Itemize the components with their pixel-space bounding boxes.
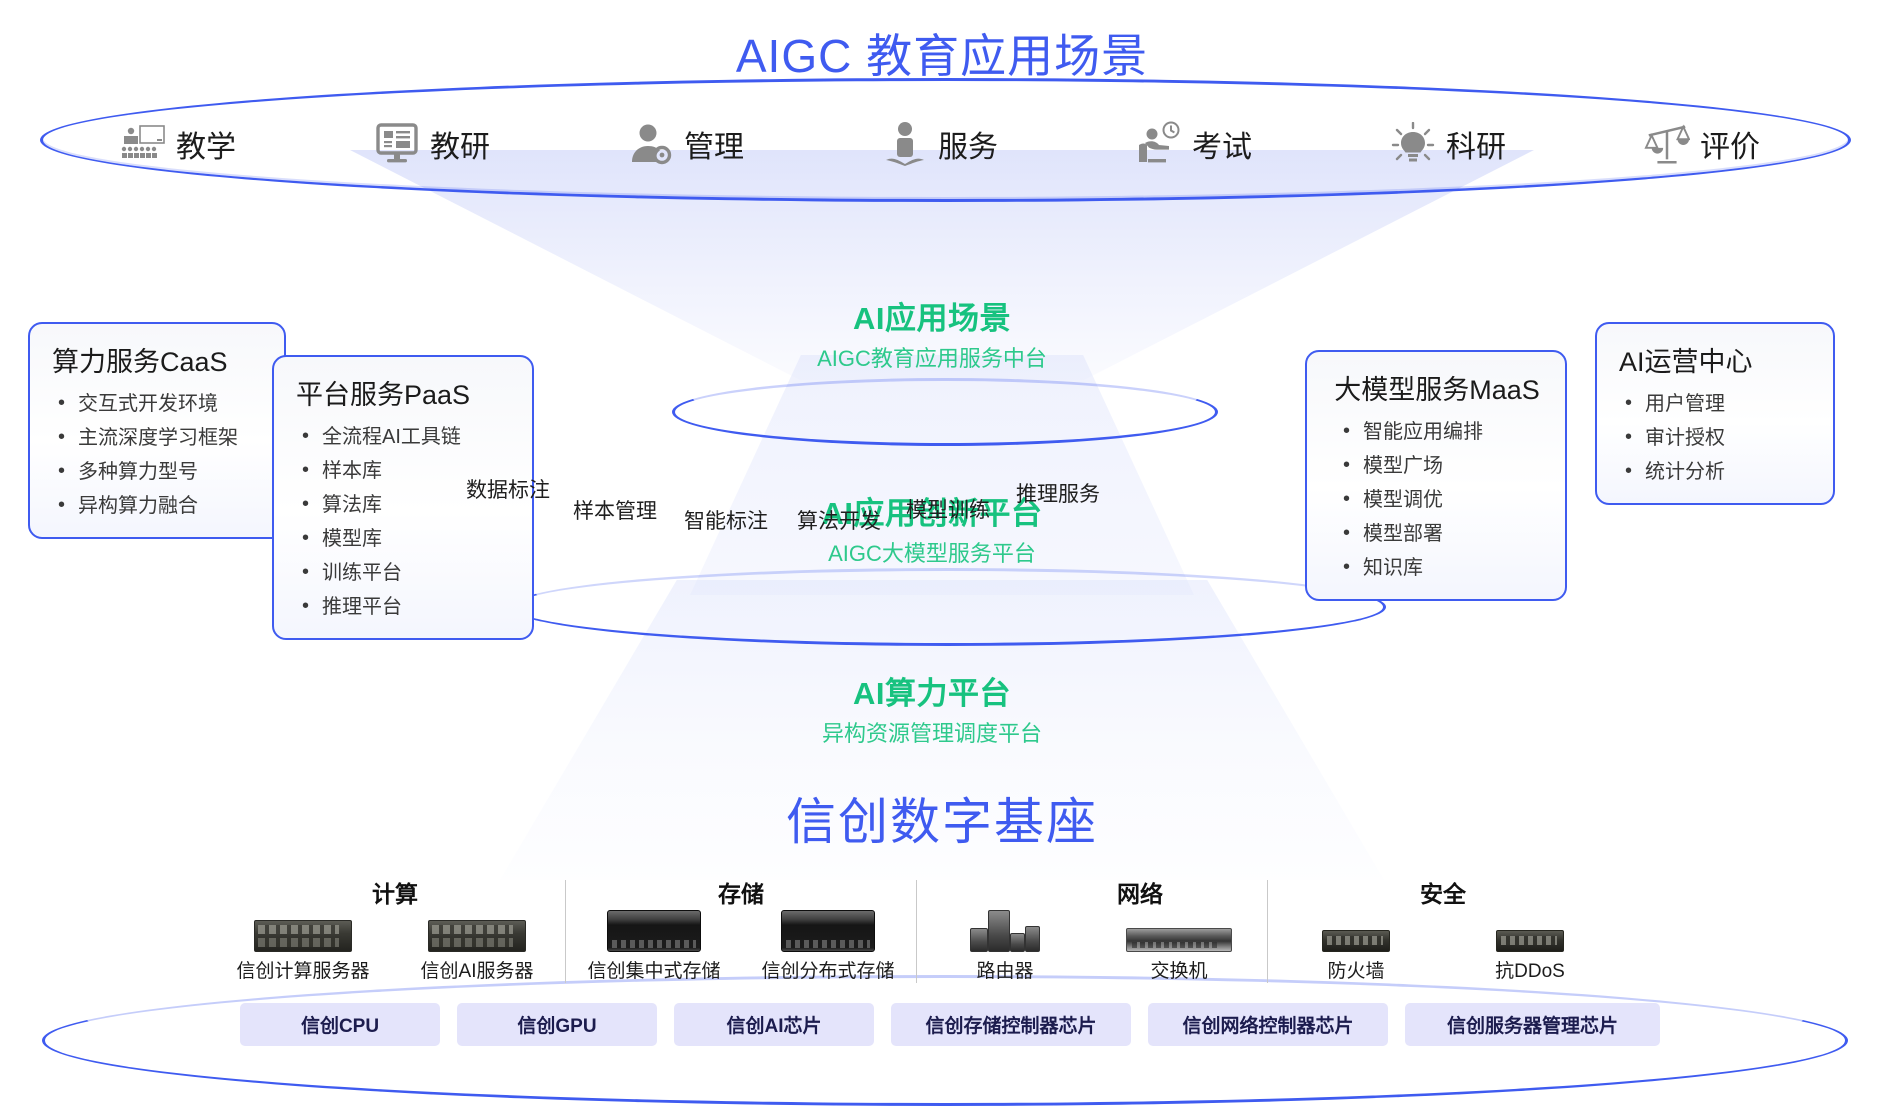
scenario-label: 考试: [1192, 122, 1252, 166]
group-title: 存储: [718, 880, 764, 908]
router-icon: [970, 910, 1040, 952]
card-title: 大模型服务MaaS: [1329, 368, 1545, 407]
list-item: 模型调优: [1329, 483, 1545, 517]
card-title: 平台服务PaaS: [296, 373, 512, 412]
infra-item-router[interactable]: 路由器: [931, 910, 1079, 983]
group-title: 计算: [372, 880, 418, 908]
scenario-item-research-teaching[interactable]: 教研: [374, 121, 490, 167]
layer-title: AI算力平台: [672, 675, 1192, 712]
list-item: 训练平台: [296, 556, 512, 590]
page-title: AIGC 教育应用场景: [0, 20, 1884, 86]
list-item: 统计分析: [1619, 455, 1813, 489]
group-title: 网络: [1117, 880, 1163, 908]
scales-icon: [1644, 121, 1690, 167]
user-gear-icon: [628, 121, 674, 167]
layer-ai-compute-platform: AI算力平台 异构资源管理调度平台: [672, 675, 1192, 748]
infra-items: 路由器 交换机: [931, 910, 1253, 983]
infrastructure-row: 计算 信创计算服务器 信创AI服务器 存储 信创集中式存储: [215, 880, 1675, 990]
list-item: 模型库: [296, 522, 512, 556]
scenario-item-evaluation[interactable]: 评价: [1644, 121, 1760, 167]
group-title: 安全: [1420, 880, 1466, 908]
chip-network-controller[interactable]: 信创网络控制器芯片: [1148, 1003, 1388, 1046]
chip-storage-controller[interactable]: 信创存储控制器芯片: [891, 1003, 1131, 1046]
scenario-label: 教研: [430, 122, 490, 166]
infra-items: 信创集中式存储 信创分布式存储: [580, 910, 902, 983]
infra-item-label: 抗DDoS: [1495, 956, 1565, 983]
infra-item-label: 路由器: [976, 956, 1033, 983]
infra-group-compute: 计算 信创计算服务器 信创AI服务器: [215, 880, 565, 983]
layer-subtitle: 异构资源管理调度平台: [672, 716, 1192, 748]
infra-group-storage: 存储 信创集中式存储 信创分布式存储: [565, 880, 916, 983]
list-item: 模型广场: [1329, 449, 1545, 483]
ring-label-smart-annotation[interactable]: 智能标注: [684, 505, 768, 535]
list-item: 异构算力融合: [52, 489, 264, 523]
lightbulb-icon: [1390, 121, 1436, 167]
scenario-label: 管理: [684, 122, 744, 166]
scenario-label: 服务: [938, 122, 998, 166]
infra-item-ai-server[interactable]: 信创AI服务器: [403, 910, 551, 983]
infra-item-anti-ddos[interactable]: 抗DDoS: [1456, 910, 1604, 983]
base-layer-title: 信创数字基座: [0, 782, 1884, 854]
chip-row: 信创CPU 信创GPU 信创AI芯片 信创存储控制器芯片 信创网络控制器芯片 信…: [240, 1003, 1660, 1046]
ring-label-model-training[interactable]: 模型训练: [906, 494, 990, 524]
infra-item-distributed-storage[interactable]: 信创分布式存储: [754, 910, 902, 983]
ring-label-data-annotation[interactable]: 数据标注: [466, 474, 550, 504]
infra-item-firewall[interactable]: 防火墙: [1282, 910, 1430, 983]
infra-item-label: 交换机: [1150, 956, 1207, 983]
list-item: 智能应用编排: [1329, 415, 1545, 449]
exam-clock-icon: [1136, 121, 1182, 167]
list-item: 模型部署: [1329, 517, 1545, 551]
list-item: 多种算力型号: [52, 455, 264, 489]
scenario-label: 科研: [1446, 122, 1506, 166]
chip-ai[interactable]: 信创AI芯片: [674, 1003, 874, 1046]
ring-label-inference-service[interactable]: 推理服务: [1016, 478, 1100, 508]
diagram-canvas: AIGC 教育应用场景: [0, 0, 1884, 1113]
card-item-list: 智能应用编排 模型广场 模型调优 模型部署 知识库: [1329, 415, 1545, 585]
scenario-item-scientific-research[interactable]: 科研: [1390, 121, 1506, 167]
card-ai-operations-center[interactable]: AI运营中心 用户管理 审计授权 统计分析: [1595, 322, 1835, 505]
chip-server-management[interactable]: 信创服务器管理芯片: [1405, 1003, 1660, 1046]
infra-items: 防火墙 抗DDoS: [1282, 910, 1604, 983]
rack-server-icon: [428, 910, 526, 952]
list-item: 用户管理: [1619, 387, 1813, 421]
rack-server-icon: [254, 910, 352, 952]
list-item: 知识库: [1329, 551, 1545, 585]
list-item: 主流深度学习框架: [52, 421, 264, 455]
storage-array-icon: [781, 910, 875, 952]
infra-item-label: 信创AI服务器: [421, 956, 534, 983]
card-maas[interactable]: 大模型服务MaaS 智能应用编排 模型广场 模型调优 模型部署 知识库: [1305, 350, 1567, 601]
scenario-row: 教学 教研: [120, 108, 1760, 180]
scenario-item-teaching[interactable]: 教学: [120, 121, 236, 167]
storage-array-icon: [607, 910, 701, 952]
infra-group-security: 安全 防火墙 抗DDoS: [1267, 880, 1618, 983]
infra-items: 信创计算服务器 信创AI服务器: [229, 910, 551, 983]
list-item: 交互式开发环境: [52, 387, 264, 421]
infra-item-label: 信创计算服务器: [236, 956, 369, 983]
list-item: 推理平台: [296, 590, 512, 624]
infra-item-label: 信创分布式存储: [761, 956, 894, 983]
ring-label-sample-management[interactable]: 样本管理: [573, 495, 657, 525]
layer-ai-application-scenarios: AI应用场景 AIGC教育应用服务中台: [672, 300, 1192, 373]
layer-title: AI应用场景: [672, 300, 1192, 337]
card-caas[interactable]: 算力服务CaaS 交互式开发环境 主流深度学习框架 多种算力型号 异构算力融合: [28, 322, 286, 539]
scenario-item-service[interactable]: 服务: [882, 121, 998, 167]
chip-gpu[interactable]: 信创GPU: [457, 1003, 657, 1046]
card-title: 算力服务CaaS: [52, 340, 264, 379]
card-item-list: 交互式开发环境 主流深度学习框架 多种算力型号 异构算力融合: [52, 387, 264, 523]
list-item: 全流程AI工具链: [296, 420, 512, 454]
ring-label-algorithm-development[interactable]: 算法开发: [797, 505, 881, 535]
card-item-list: 用户管理 审计授权 统计分析: [1619, 387, 1813, 489]
infra-item-compute-server[interactable]: 信创计算服务器: [229, 910, 377, 983]
classroom-icon: [120, 121, 166, 167]
chip-cpu[interactable]: 信创CPU: [240, 1003, 440, 1046]
monitor-document-icon: [374, 121, 420, 167]
infra-item-label: 防火墙: [1327, 956, 1384, 983]
card-item-list: 全流程AI工具链 样本库 算法库 模型库 训练平台 推理平台: [296, 420, 512, 624]
scenario-item-management[interactable]: 管理: [628, 121, 744, 167]
ddos-appliance-icon: [1496, 910, 1564, 952]
layer-subtitle: AIGC教育应用服务中台: [672, 341, 1192, 373]
infra-group-network: 网络 路由器 交换机: [916, 880, 1267, 983]
card-title: AI运营中心: [1619, 340, 1813, 379]
scenario-label: 教学: [176, 122, 236, 166]
infra-item-label: 信创集中式存储: [587, 956, 720, 983]
scenario-item-exam[interactable]: 考试: [1136, 121, 1252, 167]
infra-item-switch[interactable]: 交换机: [1105, 910, 1253, 983]
switch-icon: [1126, 910, 1232, 952]
person-service-icon: [882, 121, 928, 167]
infra-item-centralized-storage[interactable]: 信创集中式存储: [580, 910, 728, 983]
layer-subtitle: AIGC大模型服务平台: [672, 536, 1192, 568]
scenario-label: 评价: [1700, 122, 1760, 166]
list-item: 审计授权: [1619, 421, 1813, 455]
firewall-appliance-icon: [1322, 910, 1390, 952]
